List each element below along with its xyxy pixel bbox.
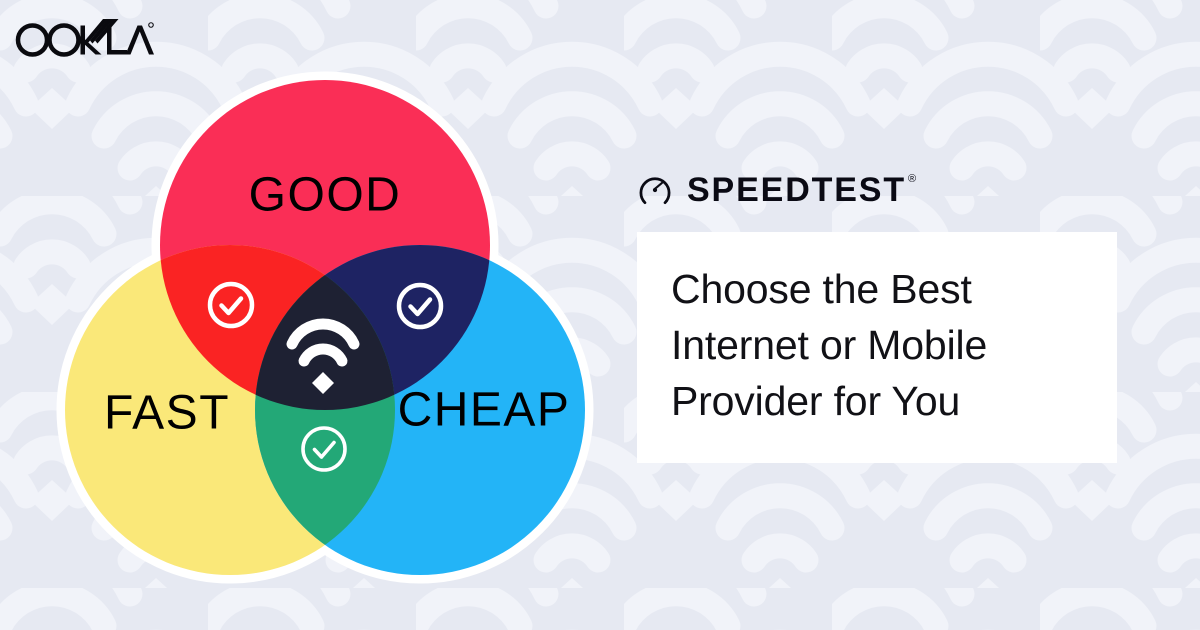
- headline-line-1: Choose the Best: [671, 262, 1083, 318]
- speedometer-icon: [637, 172, 673, 208]
- headline-line-3: Provider for You: [671, 374, 1083, 430]
- headline-line-2: Internet or Mobile: [671, 318, 1083, 374]
- venn-label-cheap: CHEAP: [398, 384, 571, 437]
- page-title: Choose the Best Internet or Mobile Provi…: [671, 262, 1083, 429]
- ookla-k-stripes: [82, 19, 119, 55]
- speedtest-trademark: ®: [908, 174, 918, 185]
- headline-card: Choose the Best Internet or Mobile Provi…: [637, 232, 1117, 463]
- venn-label-fast: FAST: [104, 387, 230, 440]
- speedtest-lockup[interactable]: SPEEDTEST ®: [637, 168, 1137, 212]
- speedtest-wordmark-text: SPEEDTEST: [687, 173, 906, 207]
- right-content-column: SPEEDTEST ® Choose the Best Internet or …: [637, 168, 1137, 463]
- venn-label-good: GOOD: [249, 169, 402, 222]
- speedtest-wordmark: SPEEDTEST ®: [687, 173, 918, 207]
- venn-diagram: GOOD FAST CHEAP: [34, 50, 624, 590]
- ookla-logo[interactable]: [14, 17, 154, 61]
